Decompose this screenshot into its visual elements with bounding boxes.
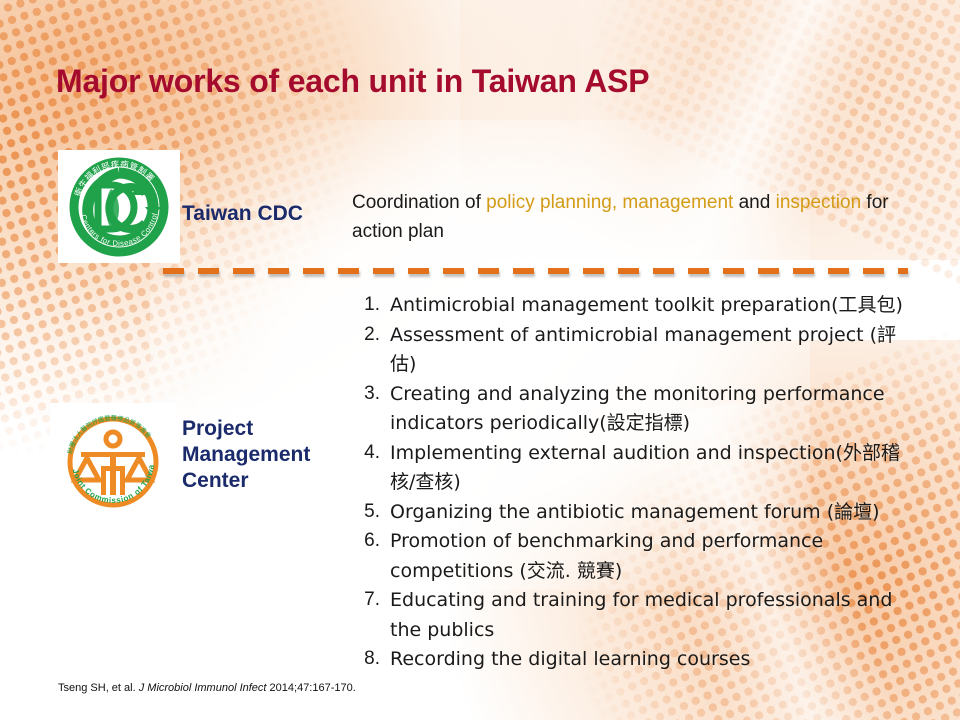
citation-authors: Tseng SH, et al.	[58, 682, 136, 694]
list-item: 5.Organizing the antibiotic management f…	[352, 498, 908, 528]
slide-canvas: Major works of each unit in Taiwan ASP 衛…	[0, 0, 960, 720]
page-title: Major works of each unit in Taiwan ASP	[56, 63, 649, 100]
pmc-label-line1: Project	[182, 416, 310, 442]
list-item-number: 4.	[352, 439, 380, 468]
list-item-text: Educating and training for medical profe…	[390, 589, 892, 641]
cdc-description: Coordination of policy planning, managem…	[352, 188, 892, 246]
cdc-desc-highlight-inspection: inspection	[776, 192, 862, 213]
list-item: 6.Promotion of benchmarking and performa…	[352, 527, 908, 586]
list-item: 2.Assessment of antimicrobial management…	[352, 321, 908, 380]
taiwan-cdc-logo: 衛生福利部疾病管制署 Centers for Disease Control	[58, 150, 180, 263]
list-item-number: 8.	[352, 645, 380, 674]
task-list: 1.Antimicrobial management toolkit prepa…	[352, 291, 908, 675]
citation-details: 2014;47:167-170.	[270, 682, 356, 694]
dashed-divider	[163, 268, 908, 274]
taiwan-cdc-logo-graphic: 衛生福利部疾病管制署 Centers for Disease Control	[65, 155, 173, 259]
joint-commission-of-taiwan-logo: 財團法人醫院評鑑暨醫療品質策進會 Joint Commission of Tai…	[50, 403, 176, 521]
list-item-text: Creating and analyzing the monitoring pe…	[390, 383, 885, 435]
list-item-text: Organizing the antibiotic management for…	[390, 501, 880, 523]
cdc-desc-highlight-policy-planning: policy planning	[486, 192, 612, 213]
list-item: 7.Educating and training for medical pro…	[352, 586, 908, 645]
list-item: 4.Implementing external audition and ins…	[352, 439, 908, 498]
list-item: 8.Recording the digital learning courses	[352, 645, 908, 675]
list-item-number: 5.	[352, 498, 380, 527]
list-item-number: 7.	[352, 586, 380, 615]
joint-commission-logo-graphic: 財團法人醫院評鑑暨醫療品質策進會 Joint Commission of Tai…	[57, 408, 169, 516]
citation-journal: J Microbiol Immunol Infect	[139, 682, 267, 694]
list-item-text: Recording the digital learning courses	[390, 648, 750, 670]
cdc-desc-seg2: ,	[612, 192, 623, 213]
list-item-text: Implementing external audition and inspe…	[390, 442, 900, 494]
unit-label-project-management-center: Project Management Center	[182, 416, 310, 494]
list-item-number: 6.	[352, 527, 380, 556]
list-item-number: 1.	[352, 291, 380, 320]
cdc-desc-seg1: Coordination of	[352, 192, 486, 213]
citation: Tseng SH, et al. J Microbiol Immunol Inf…	[58, 682, 356, 694]
halftone-pattern-top-right	[542, 0, 960, 312]
pmc-label-line3: Center	[182, 468, 310, 494]
list-item-text: Promotion of benchmarking and performanc…	[390, 530, 823, 582]
unit-label-taiwan-cdc: Taiwan CDC	[182, 201, 303, 227]
list-item: 1.Antimicrobial management toolkit prepa…	[352, 291, 908, 321]
cdc-desc-highlight-management: management	[622, 192, 733, 213]
list-item-number: 2.	[352, 321, 380, 350]
cdc-desc-seg3: and	[733, 192, 775, 213]
pmc-label-line2: Management	[182, 442, 310, 468]
list-item: 3.Creating and analyzing the monitoring …	[352, 380, 908, 439]
list-item-text: Antimicrobial management toolkit prepara…	[390, 294, 903, 316]
list-item-text: Assessment of antimicrobial management p…	[390, 324, 896, 376]
list-item-number: 3.	[352, 380, 380, 409]
